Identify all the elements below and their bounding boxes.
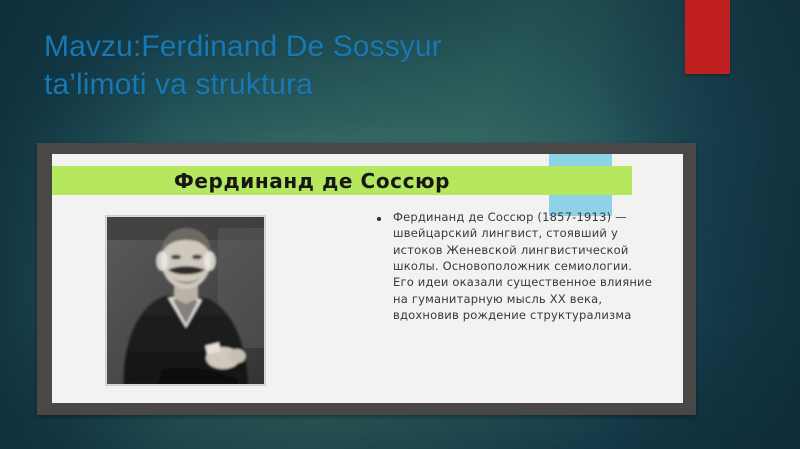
portrait-photo-illustration [106, 216, 265, 385]
presentation-slide: Mavzu:Ferdinand De Sossyur ta’limoti va … [0, 0, 800, 449]
embedded-slide-body-text: Фердинанд де Соссюр (1857-1913) — швейца… [393, 209, 652, 323]
red-accent-rectangle [685, 0, 730, 74]
portrait-photo [106, 216, 265, 385]
embedded-slide-bullet-item: Фердинанд де Соссюр (1857-1913) — швейца… [377, 209, 652, 323]
bullet-dot-icon [377, 217, 381, 221]
embedded-slide-title-banner: Фердинанд де Соссюр [52, 166, 632, 195]
embedded-slide-title-text: Фердинанд де Соссюр [52, 169, 632, 193]
embedded-slide-image-frame: Фердинанд де Соссюр [37, 143, 696, 415]
slide-title: Mavzu:Ferdinand De Sossyur ta’limoti va … [44, 28, 684, 105]
embedded-slide-page: Фердинанд де Соссюр [52, 154, 683, 403]
